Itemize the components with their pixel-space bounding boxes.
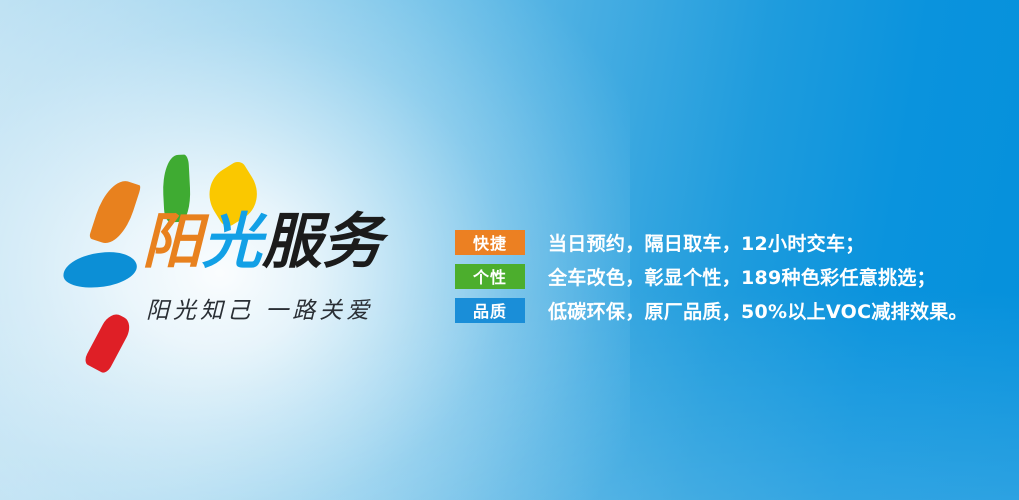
petal-orange-icon <box>89 175 142 248</box>
logo-title: 阳光服务 <box>142 212 382 272</box>
logo-tagline: 阳光知己 一路关爱 <box>146 291 373 325</box>
badge-unique: 个性 <box>455 264 525 289</box>
petal-blue-icon <box>61 248 139 292</box>
feature-text-quick: 当日预约，隔日取车，12小时交车； <box>548 229 865 256</box>
feature-list: 快捷 当日预约，隔日取车，12小时交车； 个性 全车改色，彰显个性，189种色彩… <box>455 229 968 323</box>
feature-row-quality: 品质 低碳环保，原厂品质，50%以上VOC减排效果。 <box>455 297 968 323</box>
promo-banner: 阳光服务 阳光知己 一路关爱 快捷 当日预约，隔日取车，12小时交车； 个性 全… <box>0 0 1019 500</box>
brand-logo: 阳光服务 阳光知己 一路关爱 <box>60 150 420 360</box>
logo-title-part-1: 阳 <box>142 207 202 277</box>
feature-text-quality: 低碳环保，原厂品质，50%以上VOC减排效果。 <box>548 297 968 324</box>
feature-text-unique: 全车改色，彰显个性，189种色彩任意挑选； <box>548 263 936 290</box>
logo-title-part-3: 服务 <box>262 207 382 277</box>
logo-title-part-2: 光 <box>202 207 262 277</box>
badge-quick: 快捷 <box>455 230 525 255</box>
feature-row-quick: 快捷 当日预约，隔日取车，12小时交车； <box>455 229 968 255</box>
badge-quality: 品质 <box>455 298 525 323</box>
feature-row-unique: 个性 全车改色，彰显个性，189种色彩任意挑选； <box>455 263 968 289</box>
